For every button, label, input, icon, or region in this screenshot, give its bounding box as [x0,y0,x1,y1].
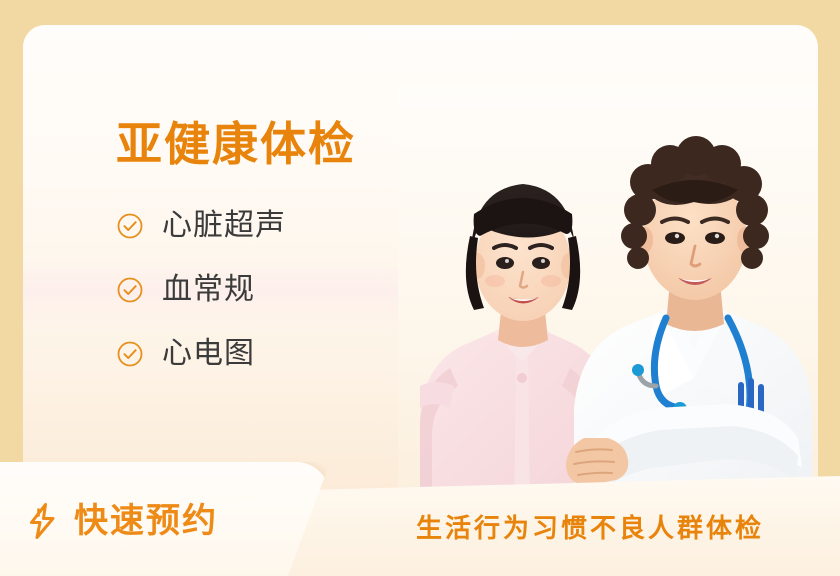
package-subtitle: 生活行为习惯不良人群体检 [340,476,840,576]
medical-staff-photo [398,86,818,516]
bottom-bar: 生活行为习惯不良人群体检 快速预约 [0,460,840,576]
promo-banner: 亚健康体检 心脏超声 血常规 [0,0,840,576]
feature-label: 心电图 [162,339,255,369]
page-title: 亚健康体检 [116,121,356,167]
check-circle-icon [116,276,144,304]
feature-label: 心脏超声 [162,211,286,241]
list-item: 心脏超声 [116,211,446,241]
feature-label: 血常规 [162,275,255,305]
quick-booking-label: 快速预约 [74,504,218,538]
quick-booking-content[interactable]: 快速预约 [26,466,218,576]
feature-list: 心脏超声 血常规 心电图 [116,211,446,369]
lightning-bolt-icon [26,502,60,540]
check-circle-icon [116,340,144,368]
check-circle-icon [116,212,144,240]
list-item: 心电图 [116,339,446,369]
list-item: 血常规 [116,275,446,305]
